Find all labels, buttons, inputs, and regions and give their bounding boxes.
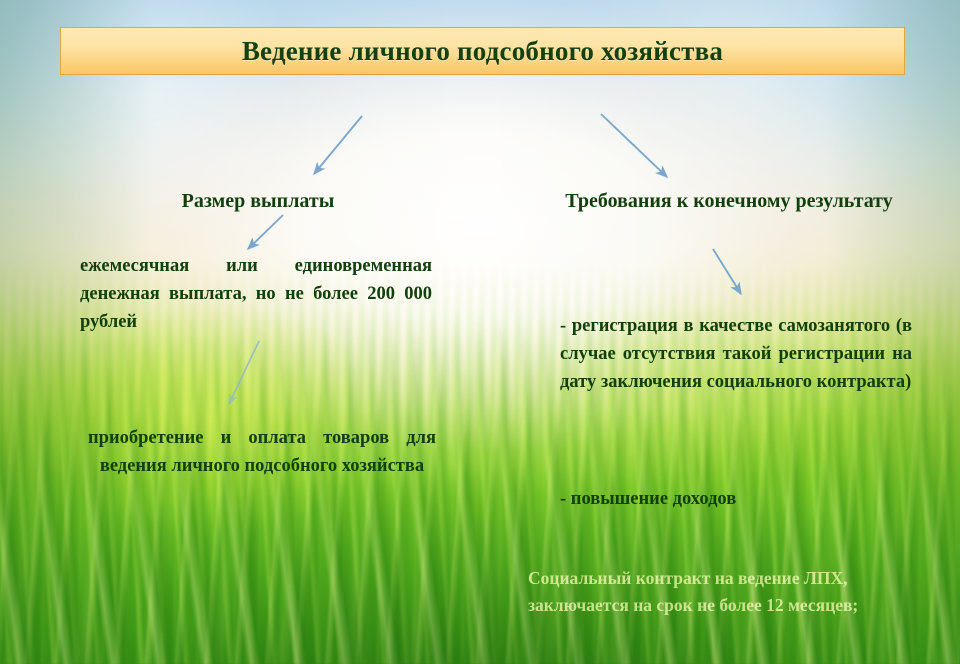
payment-amount-text: ежемесячная или единовременная денежная … [80, 252, 432, 336]
title-banner: Ведение личного подсобного хозяйства [60, 27, 905, 75]
purchase-goods-text: приобретение и оплата товаров для ведени… [88, 424, 436, 480]
requirement-income-text: - повышение доходов [560, 489, 920, 510]
footnote-line-1: Социальный контракт на ведение ЛПХ, [528, 565, 948, 592]
requirement-registration-text: - регистрация в качестве самозанятого (в… [560, 312, 912, 396]
footnote-block: Социальный контракт на ведение ЛПХ, закл… [528, 565, 948, 619]
slide-canvas: Ведение личного подсобного хозяйства Раз… [0, 0, 960, 664]
right-column-headline: Требования к конечному результату [548, 188, 910, 214]
page-title: Ведение личного подсобного хозяйства [242, 36, 723, 67]
footnote-line-2: заключается на срок не более 12 месяцев; [528, 592, 948, 619]
left-column-headline: Размер выплаты [108, 188, 408, 214]
